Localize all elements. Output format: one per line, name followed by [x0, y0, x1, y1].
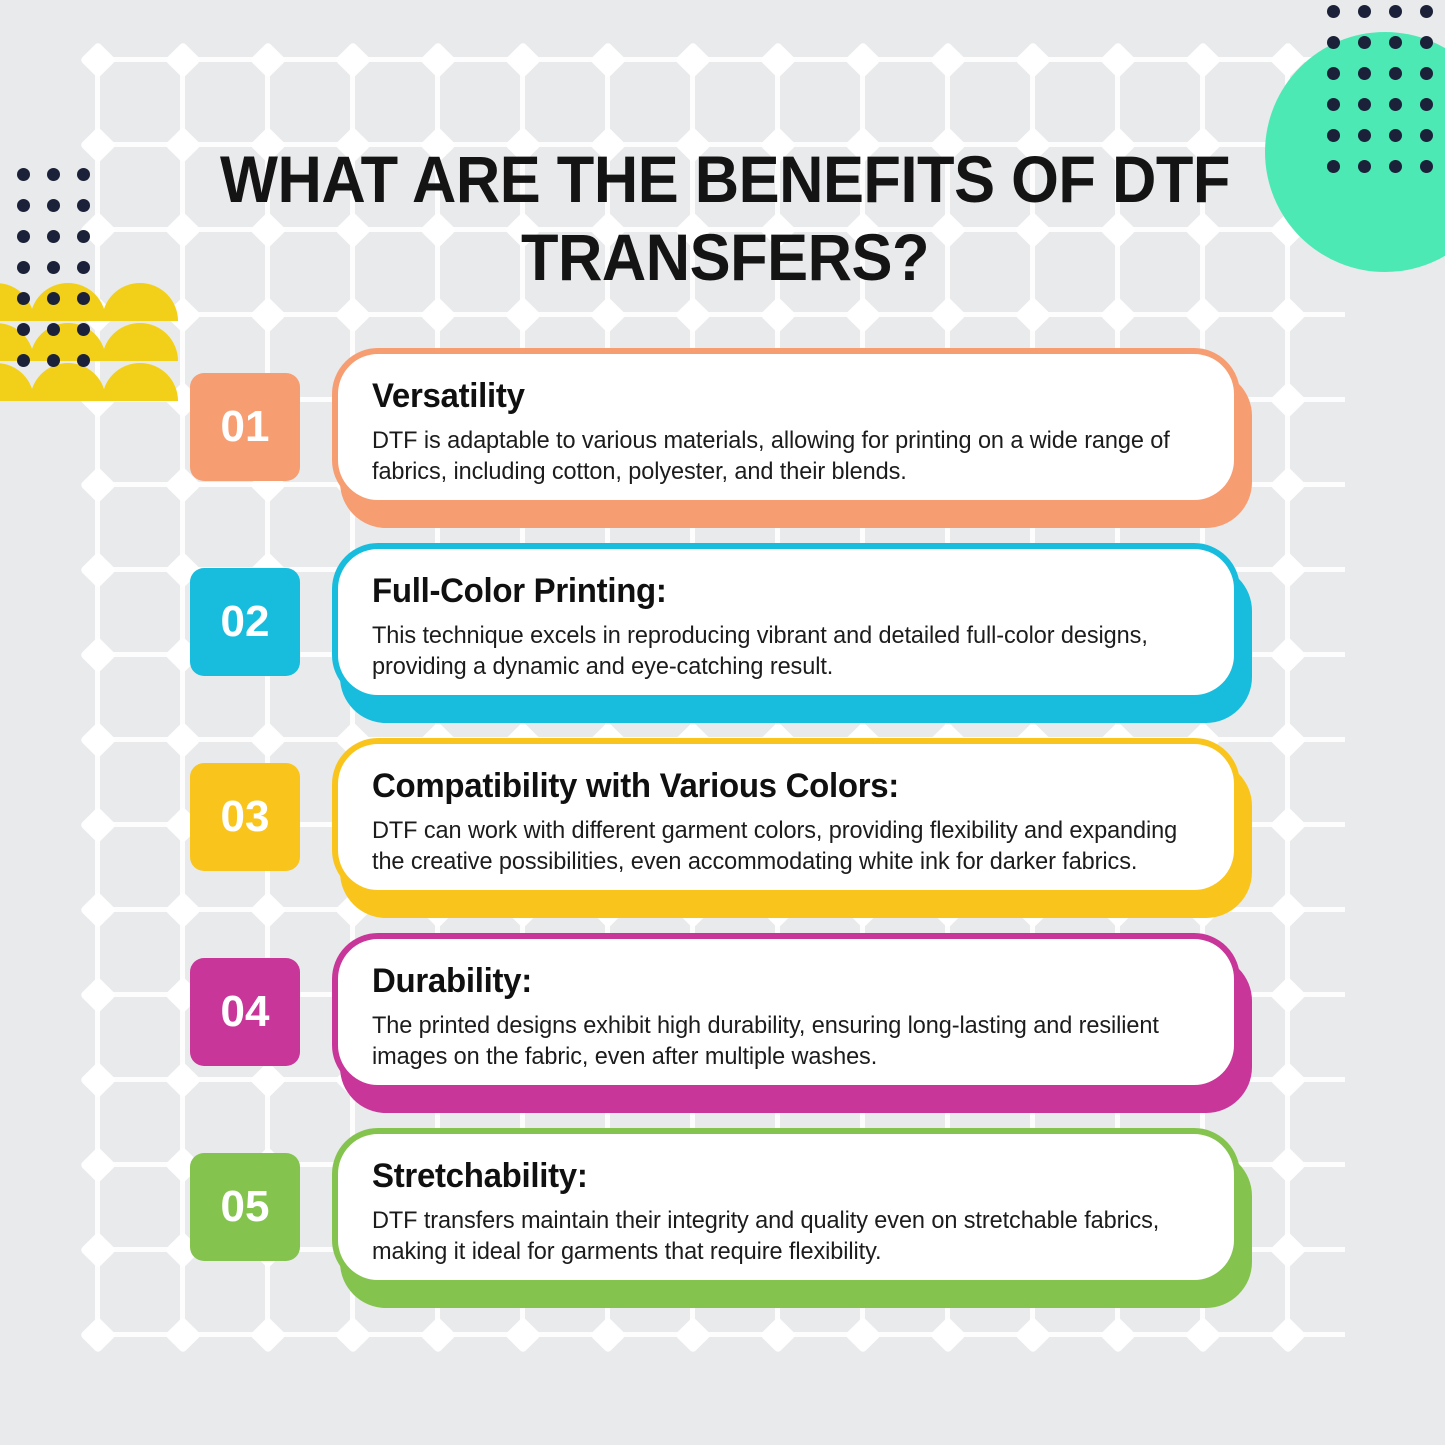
benefit-number: 04 — [221, 987, 270, 1037]
benefit-card-body: Compatibility with Various Colors:DTF ca… — [332, 738, 1252, 906]
benefits-list: 01VersatilityDTF is adaptable to various… — [0, 348, 1445, 1323]
benefit-number-badge: 05 — [190, 1153, 300, 1261]
dot-decoration — [1327, 129, 1340, 142]
dot-decoration — [1420, 67, 1433, 80]
benefit-card: 04Durability:The printed designs exhibit… — [0, 933, 1445, 1128]
benefit-card: 05Stretchability:DTF transfers maintain … — [0, 1128, 1445, 1323]
dot-decoration — [1327, 36, 1340, 49]
dot-decoration — [47, 292, 60, 305]
card-face: Compatibility with Various Colors:DTF ca… — [332, 738, 1240, 896]
benefit-number: 02 — [221, 597, 270, 647]
dot-decoration — [17, 199, 30, 212]
dot-decoration — [47, 199, 60, 212]
dot-decoration — [1389, 67, 1402, 80]
benefit-heading: Compatibility with Various Colors: — [372, 766, 1175, 806]
benefit-heading: Versatility — [372, 376, 1175, 416]
benefit-number: 01 — [221, 402, 270, 452]
benefit-card-body: VersatilityDTF is adaptable to various m… — [332, 348, 1252, 516]
dot-decoration — [77, 292, 90, 305]
dot-decoration — [17, 230, 30, 243]
page-title: WHAT ARE THE BENEFITS OF DTF TRANSFERS? — [190, 140, 1260, 296]
dot-decoration — [77, 168, 90, 181]
benefit-card-body: Stretchability:DTF transfers maintain th… — [332, 1128, 1252, 1296]
dot-decoration — [1420, 160, 1433, 173]
dot-decoration — [1327, 67, 1340, 80]
benefit-number: 03 — [221, 792, 270, 842]
dot-decoration — [1327, 5, 1340, 18]
dot-decoration — [77, 261, 90, 274]
dot-decoration — [1389, 129, 1402, 142]
dot-decoration — [1358, 98, 1371, 111]
dot-decoration — [1389, 36, 1402, 49]
benefit-description: This technique excels in reproducing vib… — [372, 620, 1199, 682]
dot-decoration — [77, 199, 90, 212]
dot-decoration — [17, 323, 30, 336]
card-face: VersatilityDTF is adaptable to various m… — [332, 348, 1240, 506]
dot-decoration — [47, 168, 60, 181]
benefit-card: 01VersatilityDTF is adaptable to various… — [0, 348, 1445, 543]
dot-decoration — [1358, 129, 1371, 142]
dot-decoration — [47, 230, 60, 243]
dot-decoration — [1358, 67, 1371, 80]
benefit-description: The printed designs exhibit high durabil… — [372, 1010, 1199, 1072]
benefit-number-badge: 02 — [190, 568, 300, 676]
dot-decoration — [1389, 160, 1402, 173]
dot-decoration — [1327, 98, 1340, 111]
dot-decoration — [1389, 98, 1402, 111]
benefit-card: 03Compatibility with Various Colors:DTF … — [0, 738, 1445, 933]
dot-decoration — [17, 261, 30, 274]
benefit-heading: Full-Color Printing: — [372, 571, 1175, 611]
dot-decoration — [1358, 5, 1371, 18]
benefit-description: DTF can work with different garment colo… — [372, 815, 1199, 877]
benefit-description: DTF is adaptable to various materials, a… — [372, 425, 1199, 487]
dot-decoration — [47, 323, 60, 336]
benefit-heading: Durability: — [372, 961, 1175, 1001]
dot-decoration — [1389, 5, 1402, 18]
card-face: Stretchability:DTF transfers maintain th… — [332, 1128, 1240, 1286]
dot-decoration — [1358, 36, 1371, 49]
dot-decoration — [17, 168, 30, 181]
dot-decoration — [1420, 36, 1433, 49]
card-face: Full-Color Printing:This technique excel… — [332, 543, 1240, 701]
benefit-card-body: Durability:The printed designs exhibit h… — [332, 933, 1252, 1101]
benefit-heading: Stretchability: — [372, 1156, 1175, 1196]
benefit-description: DTF transfers maintain their integrity a… — [372, 1205, 1199, 1267]
benefit-card: 02Full-Color Printing:This technique exc… — [0, 543, 1445, 738]
dot-decoration — [1327, 160, 1340, 173]
dot-decoration — [1358, 160, 1371, 173]
card-face: Durability:The printed designs exhibit h… — [332, 933, 1240, 1091]
dot-decoration — [47, 261, 60, 274]
benefit-card-body: Full-Color Printing:This technique excel… — [332, 543, 1252, 711]
dot-decoration — [77, 230, 90, 243]
benefit-number-badge: 01 — [190, 373, 300, 481]
dot-decoration — [17, 292, 30, 305]
dot-decoration — [1420, 129, 1433, 142]
benefit-number: 05 — [221, 1182, 270, 1232]
benefit-number-badge: 03 — [190, 763, 300, 871]
dot-decoration — [77, 323, 90, 336]
benefit-number-badge: 04 — [190, 958, 300, 1066]
dot-decoration — [1420, 5, 1433, 18]
dot-decoration — [1420, 98, 1433, 111]
